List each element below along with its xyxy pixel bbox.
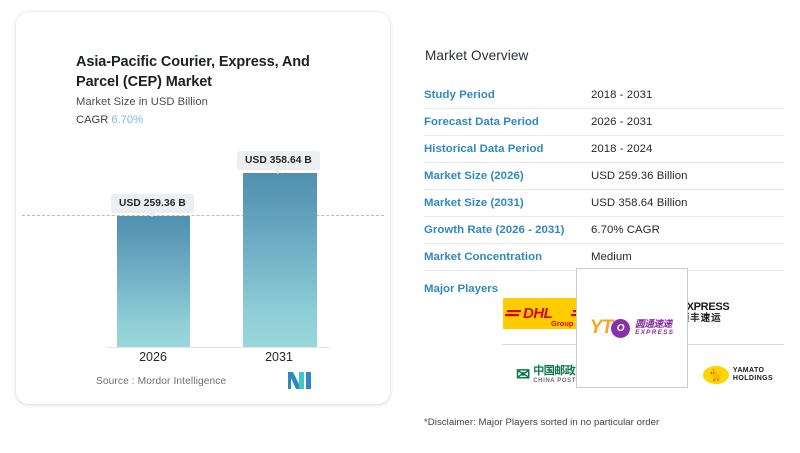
bar-2026[interactable] bbox=[117, 216, 190, 347]
table-row: Forecast Data Period 2026 - 2031 bbox=[424, 109, 784, 136]
player-logo-yamato[interactable]: 🐈 YAMATO HOLDINGS bbox=[692, 346, 784, 404]
major-players-logo-grid: DHL Group SF EXPRESS 顺丰速运 ✉ 中国邮政 bbox=[500, 284, 785, 406]
table-row: Market Size (2026) USD 259.36 Billion bbox=[424, 163, 784, 190]
major-players-label: Major Players bbox=[424, 283, 498, 295]
yto-express-logo-icon: YT O 圆通速递 EXPRESS bbox=[590, 317, 674, 339]
x-axis-tick-2026: 2026 bbox=[116, 350, 190, 364]
bar-value-label-2026: USD 259.36 B bbox=[111, 194, 194, 213]
bar-2031[interactable] bbox=[243, 173, 317, 347]
row-label: Growth Rate (2026 - 2031) bbox=[424, 224, 591, 236]
market-overview-heading: Market Overview bbox=[425, 48, 528, 63]
yto-circle-mark: O bbox=[611, 319, 630, 338]
player-logo-yto-express[interactable]: YT O 圆通速递 EXPRESS bbox=[576, 268, 688, 388]
table-row: Historical Data Period 2018 - 2024 bbox=[424, 136, 784, 163]
china-post-text-block: 中国邮政 CHINA POST bbox=[533, 366, 576, 384]
row-label: Forecast Data Period bbox=[424, 116, 591, 128]
table-row: Market Size (2031) USD 358.64 Billion bbox=[424, 190, 784, 217]
yamato-text-block: YAMATO HOLDINGS bbox=[733, 367, 773, 383]
svg-text:DHL: DHL bbox=[523, 305, 553, 322]
row-label: Study Period bbox=[424, 89, 591, 101]
row-label: Market Size (2026) bbox=[424, 170, 591, 182]
yamato-cat-icon: 🐈 bbox=[703, 366, 729, 384]
x-axis-line bbox=[106, 347, 330, 348]
row-value: Medium bbox=[591, 251, 632, 263]
row-value: 2018 - 2031 bbox=[591, 89, 652, 101]
row-value: USD 358.64 Billion bbox=[591, 197, 688, 209]
market-report-infographic: Asia-Pacific Courier, Express, And Parce… bbox=[0, 0, 800, 453]
table-row: Market Concentration Medium bbox=[424, 244, 784, 271]
yamato-logo-icon: 🐈 YAMATO HOLDINGS bbox=[703, 366, 773, 384]
bar-chart-plot: USD 259.36 B USD 358.64 B 2026 2031 bbox=[16, 12, 390, 404]
chart-card: Asia-Pacific Courier, Express, And Parce… bbox=[16, 12, 390, 404]
disclaimer-text: *Disclaimer: Major Players sorted in no … bbox=[424, 417, 659, 428]
market-overview-table: Study Period 2018 - 2031 Forecast Data P… bbox=[424, 82, 784, 271]
yto-text-block: 圆通速递 EXPRESS bbox=[635, 320, 674, 336]
yto-text-en: EXPRESS bbox=[635, 330, 674, 337]
chart-gridline bbox=[22, 215, 384, 216]
row-value: USD 259.36 Billion bbox=[591, 170, 688, 182]
row-value: 2026 - 2031 bbox=[591, 116, 652, 128]
row-label: Market Concentration bbox=[424, 251, 591, 263]
row-label: Historical Data Period bbox=[424, 143, 591, 155]
bar-value-label-2031: USD 358.64 B bbox=[237, 151, 320, 170]
china-post-text-en: CHINA POST bbox=[533, 378, 576, 384]
x-axis-tick-2031: 2031 bbox=[242, 350, 316, 364]
source-text: Source : Mordor Intelligence bbox=[96, 376, 226, 387]
yto-text-main: YT bbox=[590, 317, 612, 339]
svg-text:Group: Group bbox=[551, 319, 574, 328]
mordor-intelligence-logo bbox=[288, 372, 312, 389]
china-post-logo-icon: ✉ 中国邮政 CHINA POST bbox=[516, 365, 576, 385]
table-row: Growth Rate (2026 - 2031) 6.70% CAGR bbox=[424, 217, 784, 244]
yamato-text-line1: YAMATO bbox=[733, 367, 773, 375]
table-row: Study Period 2018 - 2031 bbox=[424, 82, 784, 109]
yamato-text-line2: HOLDINGS bbox=[733, 375, 773, 383]
china-post-text-cn: 中国邮政 bbox=[533, 366, 576, 378]
china-post-mark: ✉ bbox=[516, 365, 530, 385]
row-label: Market Size (2031) bbox=[424, 197, 591, 209]
row-value: 6.70% CAGR bbox=[591, 224, 660, 236]
row-value: 2018 - 2024 bbox=[591, 143, 652, 155]
